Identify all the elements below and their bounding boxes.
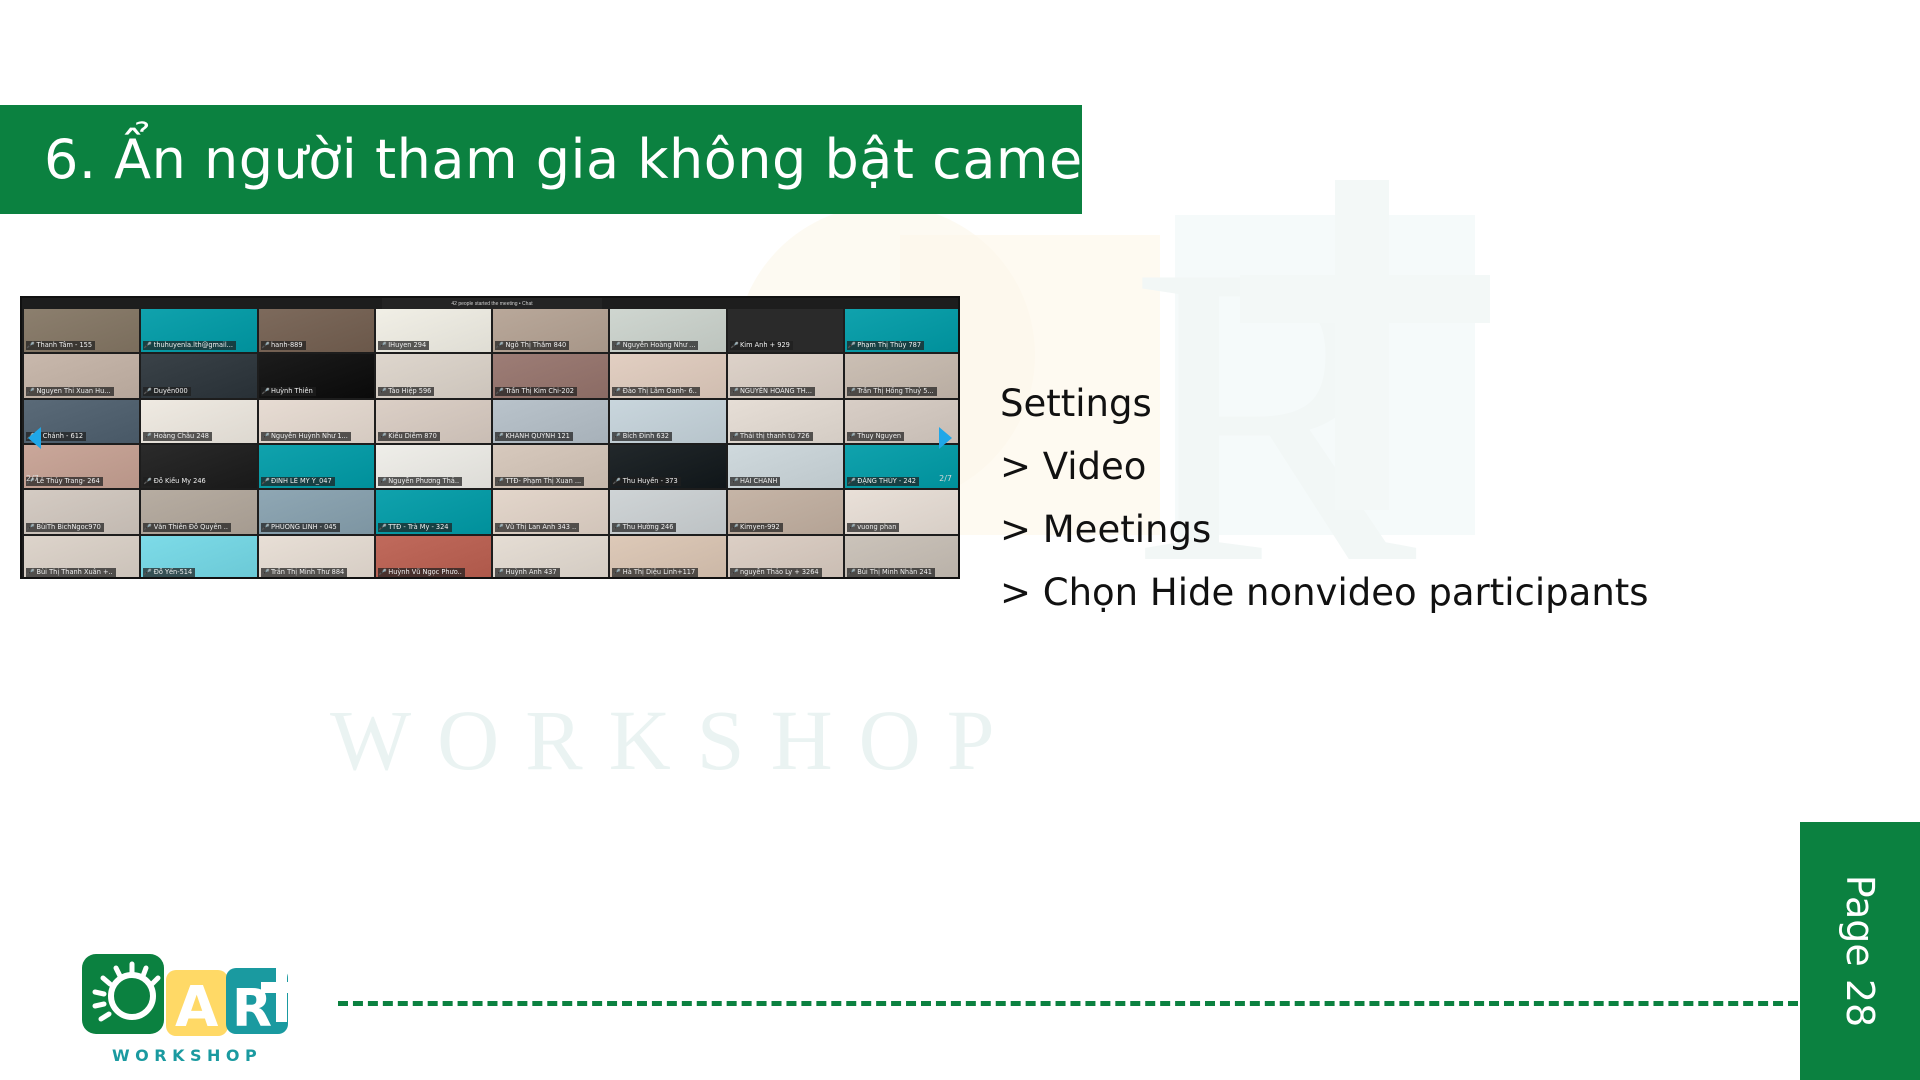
participant-name-label: 🎤Trần Thị Kim Chi-202 [495, 387, 577, 396]
participant-name-text: Huỳnh Anh 437 [505, 568, 556, 577]
microphone-muted-icon: 🎤 [847, 477, 856, 486]
participant-name-label: 🎤Huỳnh Vũ Ngọc Phưo.. [378, 568, 465, 577]
participant-name-text: Nguyễn Huỳnh Như 1... [271, 432, 348, 441]
participant-name-text: Trần Thị Minh Thư 884 [271, 568, 344, 577]
instruction-line-meetings: > Meetings [1000, 498, 1649, 561]
participant-name-label: 🎤Kimyen-992 [730, 523, 783, 532]
participant-tile[interactable]: 🎤KHÁNH QUỲNH 121 [493, 400, 608, 443]
microphone-muted-icon: 🎤 [261, 341, 270, 350]
participant-name-label: 🎤Bùi Thị Minh Nhân 241 [847, 568, 935, 577]
microphone-muted-icon: 🎤 [730, 341, 739, 350]
participant-tile[interactable]: 🎤Kiều Diễm 870 [376, 400, 491, 443]
microphone-muted-icon: 🎤 [730, 523, 739, 532]
microphone-muted-icon: 🎤 [495, 477, 504, 486]
participant-tile[interactable]: 🎤Đỗ Kiều My 246 [141, 445, 256, 488]
microphone-muted-icon: 🎤 [495, 432, 504, 441]
microphone-muted-icon: 🎤 [495, 568, 504, 577]
participant-name-text: Hoàng Châu 248 [154, 432, 209, 441]
participant-name-label: 🎤TTĐ- Phạm Thị Xuan ... [495, 477, 584, 486]
participant-name-label: 🎤NGUYỄN HOÀNG TH... [730, 387, 815, 396]
participant-name-text: Nguyen Thi Xuan Hu... [36, 387, 110, 396]
participant-name-label: 🎤Huỳnh Thiên [261, 387, 316, 396]
page-number-label: Page 28 [1838, 875, 1882, 1027]
participant-name-label: 🎤Trần Thị Hồng Thuỷ 5... [847, 387, 937, 396]
microphone-muted-icon: 🎤 [261, 432, 270, 441]
participant-name-text: hanh-889 [271, 341, 303, 350]
participant-name-label: 🎤Thanh Tâm - 155 [26, 341, 95, 350]
instruction-line-settings: Settings [1000, 372, 1649, 435]
participant-name-label: 🎤Thuy Nguyen [847, 432, 904, 441]
participant-name-label: 🎤Nguyễn Hoàng Như ... [612, 341, 698, 350]
participant-tile[interactable]: 🎤HẢI CHÁNH [728, 445, 843, 488]
participant-tile[interactable]: 🎤BùiTh BichNgoc970 [24, 490, 139, 533]
participant-tile[interactable]: 🎤Nguyen Thi Xuan Hu... [24, 354, 139, 397]
participant-name-label: 🎤Vũ Thị Lan Anh 343 .. [495, 523, 579, 532]
microphone-muted-icon: 🎤 [143, 523, 152, 532]
logo-mark-icon: A R [80, 950, 320, 1050]
participant-name-text: thuhuyenla.lth@gmail... [154, 341, 233, 350]
participant-tile[interactable]: 🎤Thu Huyền - 373 [610, 445, 725, 488]
participant-name-label: 🎤thuhuyenla.lth@gmail... [143, 341, 236, 350]
participant-name-label: 🎤PHUONG LINH - 045 [261, 523, 340, 532]
participant-name-label: 🎤Phạm Thị Thủy 787 [847, 341, 924, 350]
participant-name-label: 🎤IHuyen 294 [378, 341, 429, 350]
participant-name-text: IHuyen 294 [388, 341, 426, 350]
microphone-muted-icon: 🎤 [378, 477, 387, 486]
participant-tile[interactable]: 🎤Nguyễn Huỳnh Như 1... [259, 400, 374, 443]
participant-tile[interactable]: 🎤Bích Đinh 632 [610, 400, 725, 443]
page-indicator-left: 2/7 [26, 474, 39, 483]
participant-tile[interactable]: 🎤Trần Thị Hồng Thuỷ 5... [845, 354, 960, 397]
participant-name-text: n Chánh - 612 [36, 432, 83, 441]
participant-name-text: Thu Huyền - 373 [623, 477, 678, 486]
participant-name-text: Kiều Diễm 870 [388, 432, 437, 441]
participant-name-label: 🎤Ngô Thị Thắm 840 [495, 341, 569, 350]
participant-name-label: 🎤Hà Thị Diệu Linh+117 [612, 568, 698, 577]
microphone-muted-icon: 🎤 [612, 432, 621, 441]
participant-name-label: 🎤Kiều Diễm 870 [378, 432, 440, 441]
participant-tile[interactable]: 🎤hanh-889 [259, 309, 374, 352]
participant-tile[interactable]: 🎤Huỳnh Vũ Ngọc Phưo.. [376, 536, 491, 579]
participant-name-text: Vũ Thị Lan Anh 343 .. [505, 523, 576, 532]
participant-name-label: 🎤Thu Huyền - 373 [612, 477, 680, 486]
microphone-muted-icon: 🎤 [847, 341, 856, 350]
participant-name-label: 🎤Văn Thiên Đỗ Quyên .. [143, 523, 231, 532]
participant-name-label: 🎤Tào Hiệp 596 [378, 387, 435, 396]
footer-divider [338, 1001, 1798, 1006]
page-title: 6. Ẩn người tham gia không bật camera [0, 128, 1139, 191]
watermark-cross-horizontal [1240, 275, 1490, 323]
oart-workshop-logo: A R WORKSHOP [80, 950, 320, 1070]
microphone-muted-icon: 🎤 [143, 432, 152, 441]
participant-tile[interactable]: 🎤Bùi Thị Minh Nhân 241 [845, 536, 960, 579]
participant-name-label: 🎤ĐINH LÊ MỸ Ý_047 [261, 477, 335, 486]
participant-tile[interactable]: 🎤vuong phan [845, 490, 960, 533]
participant-name-text: KHÁNH QUỲNH 121 [505, 432, 569, 441]
microphone-muted-icon: 🎤 [612, 341, 621, 350]
participant-name-text: TTĐ - Trà My - 324 [388, 523, 448, 532]
participant-tile[interactable]: 🎤Nguyễn Hoàng Như ... [610, 309, 725, 352]
microphone-muted-icon: 🎤 [378, 568, 387, 577]
microphone-muted-icon: 🎤 [261, 387, 270, 396]
participant-name-text: Đỗ Yến-514 [154, 568, 192, 577]
microphone-muted-icon: 🎤 [495, 341, 504, 350]
slide-root: R WORKSHOP 6. Ẩn người tham gia không bậ… [0, 0, 1920, 1080]
microphone-muted-icon: 🎤 [26, 523, 35, 532]
participant-name-label: 🎤Thu Hường 246 [612, 523, 676, 532]
participant-name-text: NGUYỄN HOÀNG TH... [740, 387, 812, 396]
participant-tile[interactable]: 🎤Hà Thị Diệu Linh+117 [610, 536, 725, 579]
participant-tile[interactable]: 🎤Bùi Thị Thanh Xuân +.. [24, 536, 139, 579]
participant-tile[interactable]: 🎤Trần Thị Minh Thư 884 [259, 536, 374, 579]
participant-name-text: Bích Đinh 632 [623, 432, 669, 441]
microphone-muted-icon: 🎤 [143, 341, 152, 350]
participant-tile[interactable]: 🎤Ngô Thị Thắm 840 [493, 309, 608, 352]
participant-tile[interactable]: 🎤Hoàng Châu 248 [141, 400, 256, 443]
participant-tile[interactable]: 🎤Kimyen-992 [728, 490, 843, 533]
participant-name-text: Thuy Nguyen [857, 432, 901, 441]
participant-name-label: 🎤Duyên000 [143, 387, 190, 396]
participant-tile[interactable]: 🎤Vũ Thị Lan Anh 343 .. [493, 490, 608, 533]
microphone-muted-icon: 🎤 [378, 523, 387, 532]
participant-name-label: 🎤Nguyễn Huỳnh Như 1... [261, 432, 351, 441]
microphone-muted-icon: 🎤 [730, 477, 739, 486]
microphone-muted-icon: 🎤 [847, 387, 856, 396]
participant-name-label: 🎤vuong phan [847, 523, 900, 532]
page-number-badge: Page 28 [1800, 822, 1920, 1080]
participant-name-text: TTĐ- Phạm Thị Xuan ... [505, 477, 581, 486]
participant-grid: 🎤Thanh Tâm - 155🎤thuhuyenla.lth@gmail...… [22, 309, 960, 579]
participant-tile[interactable]: 🎤Văn Thiên Đỗ Quyên .. [141, 490, 256, 533]
participant-tile[interactable]: 🎤Tào Hiệp 596 [376, 354, 491, 397]
participant-name-text: nguyễn Thảo Ly + 3264 [740, 568, 819, 577]
logo-caption: WORKSHOP [112, 1046, 262, 1065]
participant-name-text: Ngô Thị Thắm 840 [505, 341, 566, 350]
watermark-workshop-text: WORKSHOP [330, 690, 1021, 790]
participant-name-text: Văn Thiên Đỗ Quyên .. [154, 523, 228, 532]
participant-name-label: 🎤BùiTh BichNgoc970 [26, 523, 104, 532]
participant-tile[interactable]: 🎤Huỳnh Thiên [259, 354, 374, 397]
microphone-muted-icon: 🎤 [261, 568, 270, 577]
participant-tile[interactable]: 🎤Nguyễn Phương Thả.. [376, 445, 491, 488]
instruction-line-hide-nonvideo: > Chọn Hide nonvideo participants [1000, 561, 1649, 624]
participant-tile[interactable]: 🎤Huỳnh Anh 437 [493, 536, 608, 579]
participant-name-label: 🎤Nguyễn Phương Thả.. [378, 477, 462, 486]
participant-tile[interactable]: 🎤PHUONG LINH - 045 [259, 490, 374, 533]
participant-name-text: Kim Anh + 929 [740, 341, 790, 350]
participant-name-text: Bùi Thị Thanh Xuân +.. [36, 568, 112, 577]
participant-tile[interactable]: 🎤Đỗ Yến-514 [141, 536, 256, 579]
participant-name-text: BùiTh BichNgoc970 [36, 523, 100, 532]
participant-tile[interactable]: 🎤TTĐ - Trà My - 324 [376, 490, 491, 533]
participant-name-label: 🎤Huỳnh Anh 437 [495, 568, 560, 577]
participant-name-text: Đỗ Kiều My 246 [154, 477, 206, 486]
participant-tile[interactable]: 🎤Đào Thị Lâm Oanh- 6.. [610, 354, 725, 397]
participant-name-text: Kimyen-992 [740, 523, 780, 532]
participant-name-text: Duyên000 [154, 387, 188, 396]
microphone-muted-icon: 🎤 [261, 477, 270, 486]
left-arrow-icon[interactable] [28, 427, 41, 449]
microphone-muted-icon: 🎤 [26, 341, 35, 350]
participant-name-text: Huỳnh Thiên [271, 387, 313, 396]
participant-name-text: Thu Hường 246 [623, 523, 674, 532]
participant-name-text: Tào Hiệp 596 [388, 387, 431, 396]
participant-name-text: PHUONG LINH - 045 [271, 523, 337, 532]
participant-tile[interactable]: 🎤thuhuyenla.lth@gmail... [141, 309, 256, 352]
microphone-muted-icon: 🎤 [612, 387, 621, 396]
microphone-muted-icon: 🎤 [847, 432, 856, 441]
participant-name-text: Thái thị thanh tú 726 [740, 432, 810, 441]
participant-name-label: 🎤hanh-889 [261, 341, 306, 350]
microphone-muted-icon: 🎤 [612, 523, 621, 532]
participant-name-text: ĐINH LÊ MỸ Ý_047 [271, 477, 332, 486]
participant-name-label: 🎤Trần Thị Minh Thư 884 [261, 568, 348, 577]
participant-name-label: 🎤KHÁNH QUỲNH 121 [495, 432, 573, 441]
participant-tile[interactable]: 🎤nguyễn Thảo Ly + 3264 [728, 536, 843, 579]
participant-name-label: 🎤ĐẶNG THỦY - 242 [847, 477, 919, 486]
svg-text:A: A [175, 975, 219, 1040]
participant-name-label: 🎤TTĐ - Trà My - 324 [378, 523, 452, 532]
participant-name-text: Huỳnh Vũ Ngọc Phưo.. [388, 568, 462, 577]
participant-name-label: 🎤Kim Anh + 929 [730, 341, 793, 350]
microphone-muted-icon: 🎤 [26, 568, 35, 577]
participant-name-text: Nguyễn Phương Thả.. [388, 477, 459, 486]
participant-tile[interactable]: 🎤NGUYỄN HOÀNG TH... [728, 354, 843, 397]
participant-tile[interactable]: 🎤Kim Anh + 929 [728, 309, 843, 352]
participant-name-text: Nguyễn Hoàng Như ... [623, 341, 696, 350]
instruction-line-video: > Video [1000, 435, 1649, 498]
participant-tile[interactable]: 🎤Phạm Thị Thủy 787 [845, 309, 960, 352]
participant-name-label: 🎤HẢI CHÁNH [730, 477, 781, 486]
participant-name-text: Lê Thủy Trang- 264 [36, 477, 99, 486]
participant-tile[interactable]: 🎤Thu Hường 246 [610, 490, 725, 533]
participant-tile[interactable]: 🎤TTĐ- Phạm Thị Xuan ... [493, 445, 608, 488]
participant-name-text: vuong phan [857, 523, 896, 532]
participant-name-text: Phạm Thị Thủy 787 [857, 341, 921, 350]
participant-name-text: Trần Thị Hồng Thuỷ 5... [857, 387, 934, 396]
microphone-muted-icon: 🎤 [378, 387, 387, 396]
microphone-muted-icon: 🎤 [143, 568, 152, 577]
right-arrow-icon[interactable] [939, 427, 952, 449]
participant-name-text: Đào Thị Lâm Oanh- 6.. [623, 387, 697, 396]
microphone-muted-icon: 🎤 [612, 568, 621, 577]
microphone-muted-icon: 🎤 [26, 387, 35, 396]
microphone-muted-icon: 🎤 [143, 387, 152, 396]
microphone-muted-icon: 🎤 [495, 523, 504, 532]
participant-name-text: Hà Thị Diệu Linh+117 [623, 568, 695, 577]
participant-name-text: Thanh Tâm - 155 [36, 341, 92, 350]
participant-tile[interactable]: 🎤Thanh Tâm - 155 [24, 309, 139, 352]
participant-name-label: 🎤nguyễn Thảo Ly + 3264 [730, 568, 822, 577]
participant-name-label: 🎤Nguyen Thi Xuan Hu... [26, 387, 114, 396]
participant-name-text: ĐẶNG THỦY - 242 [857, 477, 916, 486]
slide-title-bar: 6. Ẩn người tham gia không bật camera [0, 105, 1082, 214]
microphone-muted-icon: 🎤 [847, 523, 856, 532]
zoom-meeting-screenshot: 42 people started the meeting • Chat 🎤Th… [20, 296, 960, 579]
participant-name-text: Bùi Thị Minh Nhân 241 [857, 568, 932, 577]
microphone-muted-icon: 🎤 [378, 341, 387, 350]
participant-name-text: HẢI CHÁNH [740, 477, 777, 486]
microphone-muted-icon: 🎤 [730, 568, 739, 577]
microphone-muted-icon: 🎤 [847, 568, 856, 577]
microphone-muted-icon: 🎤 [143, 477, 152, 486]
microphone-muted-icon: 🎤 [261, 523, 270, 532]
microphone-muted-icon: 🎤 [495, 387, 504, 396]
instruction-block: Settings > Video > Meetings > Chọn Hide … [1000, 372, 1649, 624]
participant-name-label: 🎤Bích Đinh 632 [612, 432, 672, 441]
participant-name-label: 🎤Đỗ Kiều My 246 [143, 477, 208, 486]
participant-tile[interactable]: 🎤ĐINH LÊ MỸ Ý_047 [259, 445, 374, 488]
participant-tile[interactable]: 🎤Thái thị thanh tú 726 [728, 400, 843, 443]
participant-name-label: 🎤Đỗ Yến-514 [143, 568, 195, 577]
page-indicator-right: 2/7 [939, 474, 952, 483]
participant-tile[interactable]: 🎤Duyên000 [141, 354, 256, 397]
participant-name-label: 🎤Hoàng Châu 248 [143, 432, 212, 441]
microphone-muted-icon: 🎤 [612, 477, 621, 486]
participant-name-label: 🎤Bùi Thị Thanh Xuân +.. [26, 568, 116, 577]
microphone-muted-icon: 🎤 [730, 432, 739, 441]
participant-tile[interactable]: 🎤Lê Thủy Trang- 264 [24, 445, 139, 488]
microphone-muted-icon: 🎤 [730, 387, 739, 396]
participant-tile[interactable]: 🎤n Chánh - 612 [24, 400, 139, 443]
participant-name-label: 🎤Thái thị thanh tú 726 [730, 432, 813, 441]
participant-name-text: Trần Thị Kim Chi-202 [505, 387, 573, 396]
participant-tile[interactable]: 🎤Trần Thị Kim Chi-202 [493, 354, 608, 397]
participant-tile[interactable]: 🎤IHuyen 294 [376, 309, 491, 352]
microphone-muted-icon: 🎤 [378, 432, 387, 441]
participant-name-label: 🎤Đào Thị Lâm Oanh- 6.. [612, 387, 700, 396]
